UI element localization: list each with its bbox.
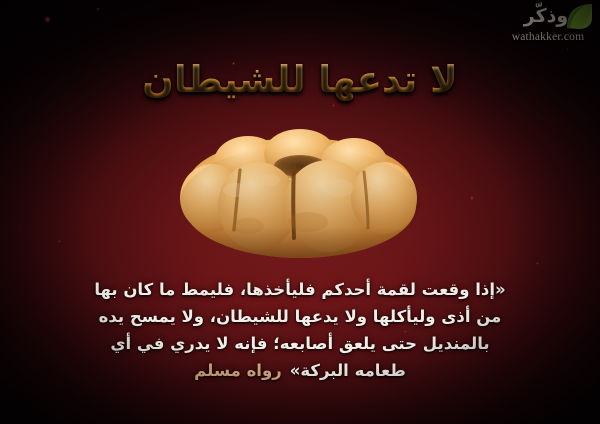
- bread-illustration: [178, 118, 422, 266]
- logo-url[interactable]: wathakker.com: [500, 31, 596, 43]
- logo-wordmark: وذكّر: [506, 3, 586, 30]
- hadith-line: «إذا وقعت لقمة أحدكم فليأخذها، فليمط ما …: [14, 276, 586, 303]
- bokeh-spark: [44, 16, 51, 23]
- hadith-line: من أذى وليأكلها ولا يدعها للشيطان، ولا ي…: [14, 303, 586, 330]
- hadith-text: «إذا وقعت لقمة أحدكم فليأخذها، فليمط ما …: [14, 276, 586, 384]
- site-logo[interactable]: وذكّر wathakker.com: [500, 2, 596, 50]
- logo-mark: وذكّر: [500, 2, 596, 32]
- hadith-line: بالمنديل حتى يلعق أصابعه؛ فإنه لا يدري ف…: [14, 330, 586, 357]
- page-title: لا تدعها للشيطان: [0, 58, 600, 101]
- bokeh-spark: [536, 262, 539, 265]
- hadith-line-text: طعامه البركة»: [290, 361, 406, 380]
- poster-canvas: وذكّر wathakker.com لا تدعها للشيطان: [0, 0, 600, 424]
- bread-roll-photo: [178, 118, 422, 266]
- hadith-narrator: رواه مسلم: [194, 361, 290, 380]
- bokeh-spark: [96, 7, 100, 11]
- bokeh-spark: [470, 196, 474, 200]
- hadith-last-line: طعامه البركة»رواه مسلم: [14, 357, 586, 384]
- bokeh-spark: [58, 240, 61, 243]
